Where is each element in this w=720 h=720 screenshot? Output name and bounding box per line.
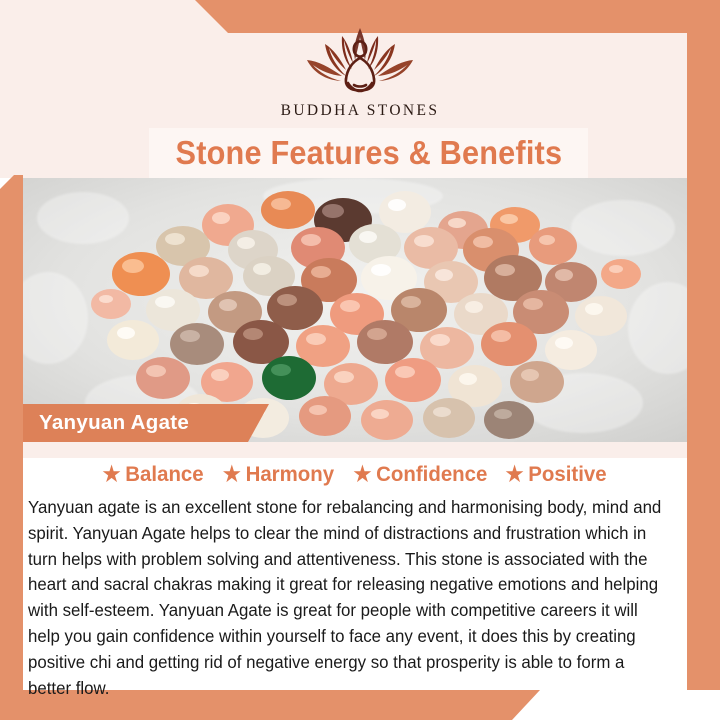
benefits-list: ★ Balance ★ Harmony ★ Confidence ★ Posit…	[23, 462, 687, 487]
benefit-item-confidence: ★ Confidence	[353, 462, 487, 487]
benefit-label: Harmony	[245, 462, 334, 487]
stone-description: Yanyuan agate is an excellent stone for …	[28, 495, 670, 701]
benefit-label: Balance	[126, 462, 204, 487]
benefit-item-balance: ★ Balance	[103, 462, 204, 487]
star-icon: ★	[353, 464, 371, 485]
benefit-label: Confidence	[376, 462, 487, 487]
lotus-meditation-icon	[285, 22, 435, 100]
stone-photo	[23, 178, 687, 442]
brand-name: BUDDHA STONES	[281, 102, 440, 120]
star-icon: ★	[103, 464, 121, 485]
star-icon: ★	[222, 464, 240, 485]
stone-name-label: Yanyuan Agate	[39, 411, 189, 435]
page-title: Stone Features & Benefits	[175, 134, 562, 172]
benefit-label: Positive	[529, 462, 607, 487]
brand-logo: BUDDHA STONES	[0, 22, 720, 120]
title-panel: Stone Features & Benefits	[149, 128, 588, 178]
star-icon: ★	[506, 464, 524, 485]
content-top-strip	[23, 442, 687, 458]
content-panel: ★ Balance ★ Harmony ★ Confidence ★ Posit…	[23, 442, 687, 690]
stone-name-badge: Yanyuan Agate	[23, 404, 269, 442]
benefit-item-positive: ★ Positive	[506, 462, 607, 487]
frame-left-accent	[0, 175, 23, 720]
benefit-item-harmony: ★ Harmony	[222, 462, 333, 487]
